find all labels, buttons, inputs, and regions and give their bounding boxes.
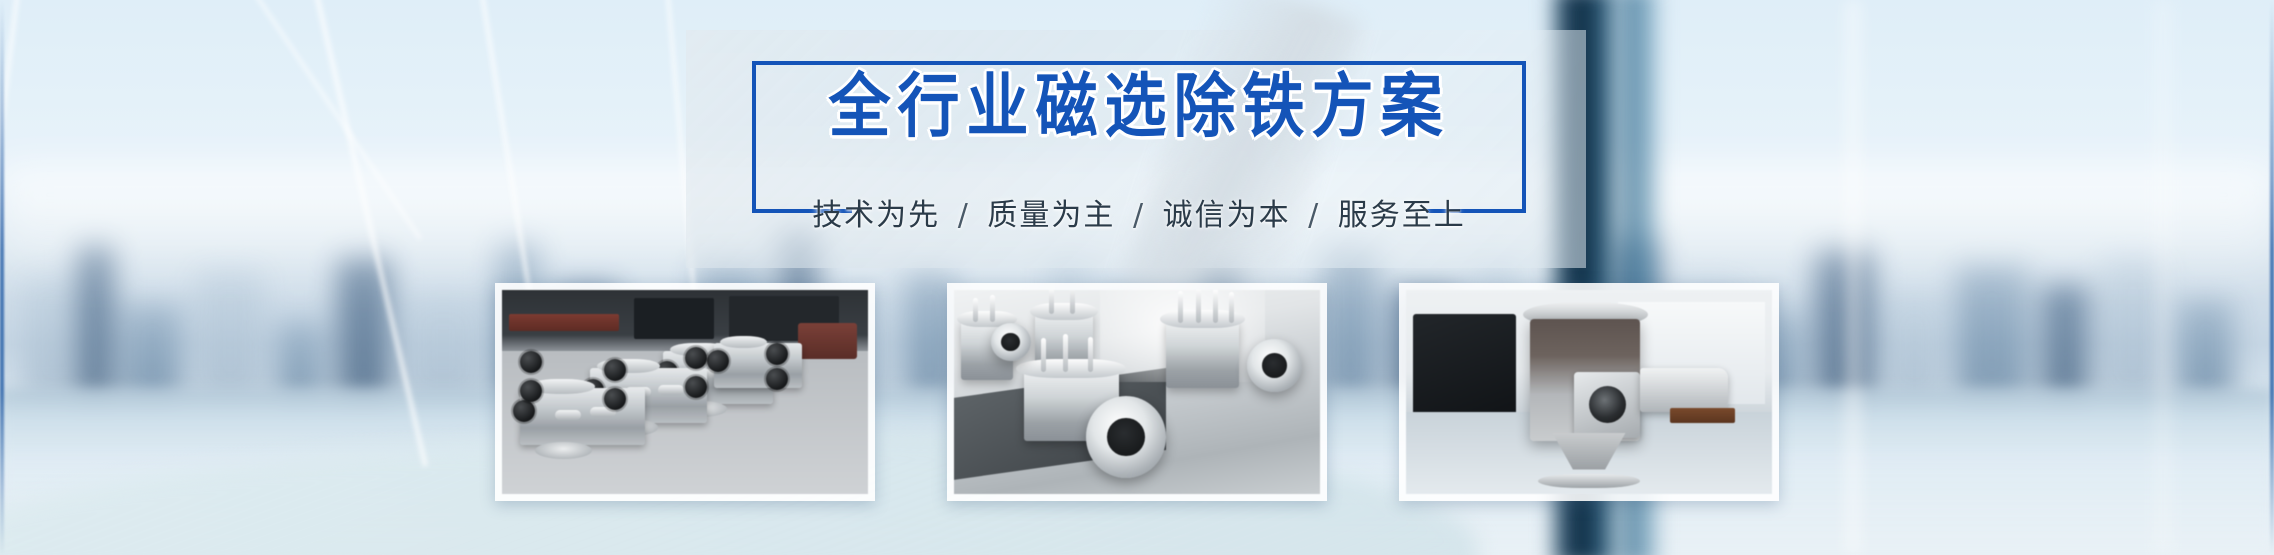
flange-rear [991,323,1031,362]
product-card-3[interactable] [1399,283,1779,501]
window-mullion [1840,0,1866,555]
subtitle-separator-3: / [1302,198,1326,233]
subtitle-part-1: 技术为先 [812,198,940,233]
left-edge-line [0,0,4,555]
product-photo-3 [1406,290,1772,494]
product-card-2[interactable] [947,283,1327,501]
subtitle-part-3: 诚信为本 [1163,198,1291,233]
product-gallery [495,283,1779,501]
subtitle-part-4: 服务至上 [1338,198,1466,233]
hero-banner: 全行业磁选除铁方案 技术为先 / 质量为主 / 诚信为本 / 服务至上 [0,0,2274,555]
flange-front [1086,396,1167,478]
product-photo-1 [502,290,868,494]
subtitle: 技术为先 / 质量为主 / 诚信为本 / 服务至上 [752,190,1526,234]
window-mullion [2150,0,2176,555]
page-title: 全行业磁选除铁方案 [824,72,1453,141]
right-edge-line [2270,0,2274,555]
product-card-1[interactable] [495,283,875,501]
subtitle-part-2: 质量为主 [987,198,1115,233]
product-photo-2 [954,290,1320,494]
flange-side [1247,339,1302,392]
headline-container: 全行业磁选除铁方案 [752,72,1526,134]
subtitle-separator-1: / [952,198,976,233]
subtitle-separator-2: / [1127,198,1151,233]
